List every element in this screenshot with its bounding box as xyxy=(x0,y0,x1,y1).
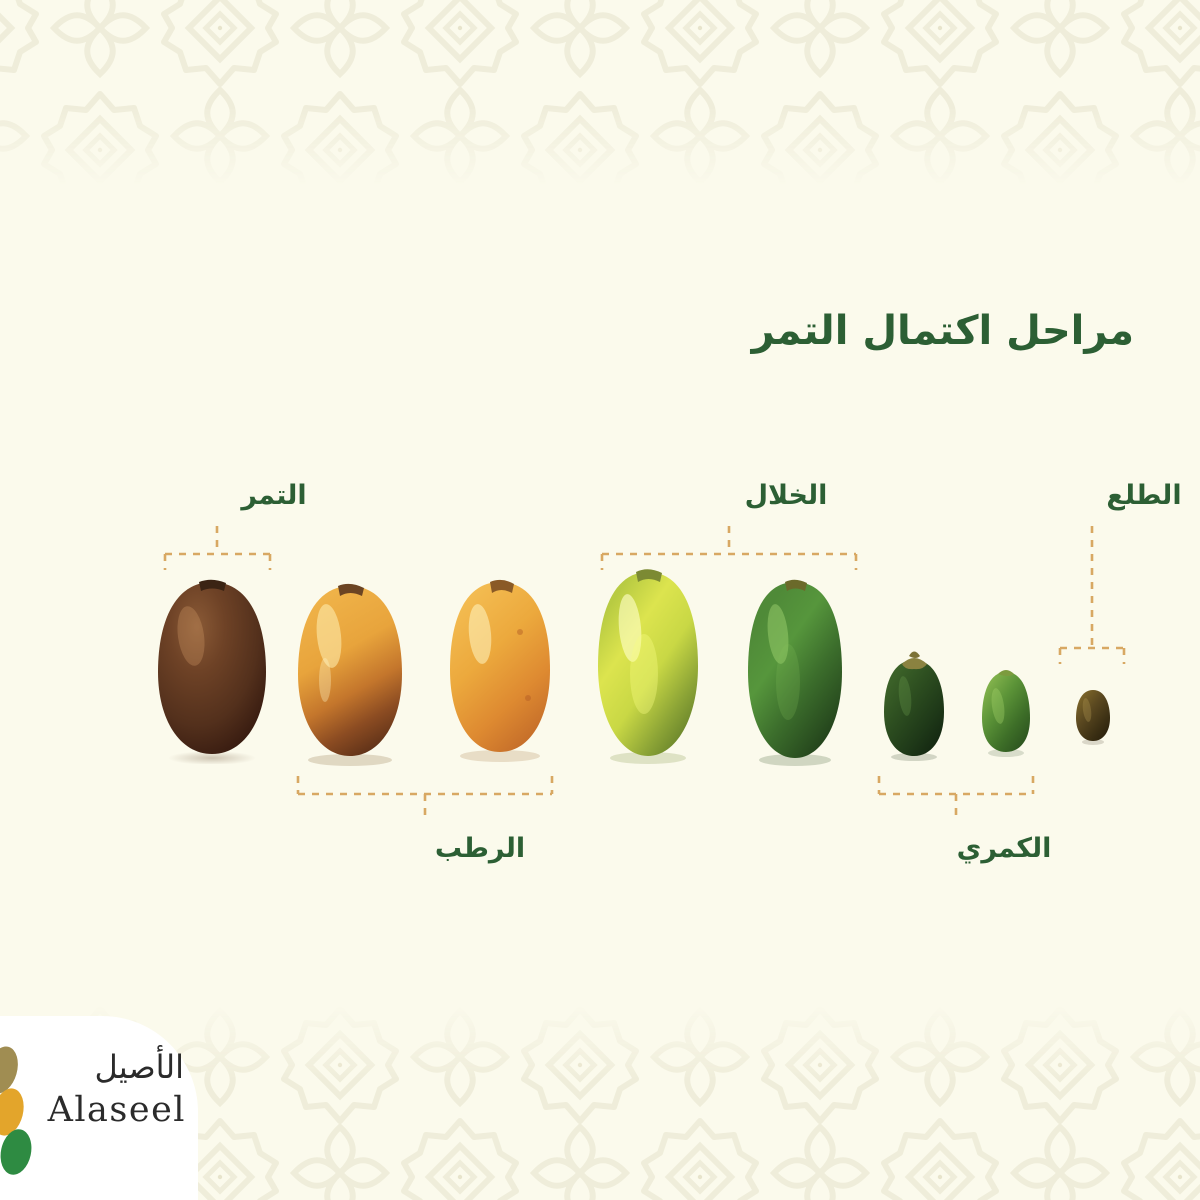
fruit-kimri-small xyxy=(978,664,1034,758)
page-title: مراحل اكتمال التمر xyxy=(752,306,1134,356)
ornamental-pattern-top xyxy=(0,0,1200,185)
brand-name-arabic: الأصيل xyxy=(95,1048,184,1086)
date-fruit-specimen-row xyxy=(0,0,1200,1200)
bracket-talaa xyxy=(1054,524,1140,670)
fruit-rutab-late xyxy=(284,580,416,766)
fruit-khalal-yellow xyxy=(586,566,710,764)
stage-label-kimri: الكمري xyxy=(957,833,1052,864)
stage-label-rutab: الرطب xyxy=(435,833,525,864)
bracket-khalal xyxy=(596,524,866,572)
brand-name-english: Alaseel xyxy=(48,1090,186,1130)
stage-label-talaa: الطلع xyxy=(1106,480,1181,511)
bracket-rutab xyxy=(292,772,562,820)
bracket-kimri xyxy=(872,772,1044,820)
date-palm-sprig-icon xyxy=(0,1042,42,1182)
fruit-talaa xyxy=(1072,684,1114,746)
fruit-tamr xyxy=(144,576,280,764)
brand-logo-card[interactable]: الأصيل Alaseel xyxy=(0,1016,198,1200)
brand-logo-inner: الأصيل Alaseel xyxy=(8,1042,188,1192)
infographic-canvas: مراحل اكتمال التمر xyxy=(0,0,1200,1200)
fruit-kimri-large xyxy=(878,644,950,762)
bracket-tamr xyxy=(160,524,280,572)
fruit-rutab-early xyxy=(436,576,564,762)
fruit-khalal-green xyxy=(736,576,854,766)
stage-label-khalal: الخلال xyxy=(745,480,828,511)
stage-label-tamr: التمر xyxy=(241,480,306,511)
